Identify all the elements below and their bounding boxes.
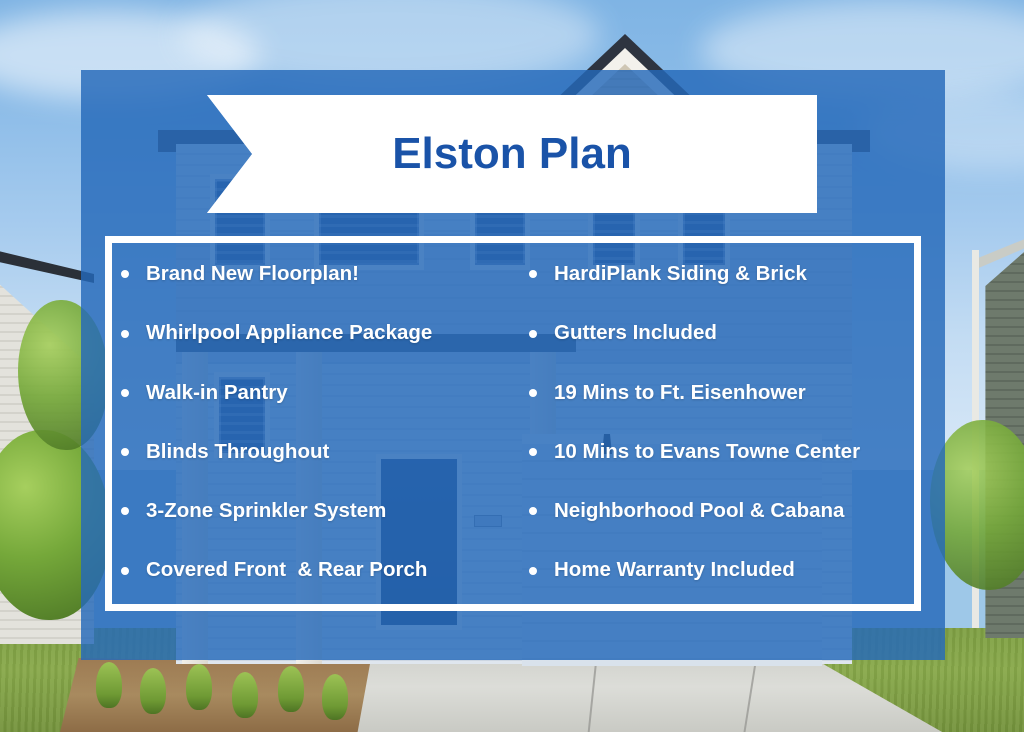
feature-label: 3-Zone Sprinkler System [146,500,386,523]
list-item: 19 Mins to Ft. Eisenhower [529,382,914,405]
feature-label: HardiPlank Siding & Brick [554,263,807,286]
bullet-dot-icon [529,567,537,575]
shrub [96,662,122,708]
list-item: Blinds Throughout [121,441,513,464]
features-box: Brand New Floorplan! Whirlpool Appliance… [105,236,921,611]
bullet-dot-icon [529,330,537,338]
feature-label: 19 Mins to Ft. Eisenhower [554,382,806,405]
bullet-dot-icon [121,330,129,338]
list-item: 3-Zone Sprinkler System [121,500,513,523]
bullet-dot-icon [121,567,129,575]
shrub [140,668,166,714]
shrub [186,664,212,710]
list-item: Whirlpool Appliance Package [121,322,513,345]
feature-label: Covered Front & Rear Porch [146,559,427,582]
bullet-dot-icon [121,270,129,278]
feature-label: Walk-in Pantry [146,382,288,405]
bullet-dot-icon [121,448,129,456]
bullet-dot-icon [121,389,129,397]
shrub [278,666,304,712]
feature-label: Neighborhood Pool & Cabana [554,500,844,523]
list-item: Home Warranty Included [529,559,914,582]
list-item: Walk-in Pantry [121,382,513,405]
bullet-dot-icon [529,270,537,278]
features-left-column: Brand New Floorplan! Whirlpool Appliance… [112,243,513,604]
feature-label: Gutters Included [554,322,717,345]
feature-label: 10 Mins to Evans Towne Center [554,441,860,464]
list-item: Brand New Floorplan! [121,263,513,286]
features-right-column: HardiPlank Siding & Brick Gutters Includ… [513,243,914,604]
feature-label: Blinds Throughout [146,441,329,464]
bullet-dot-icon [121,507,129,515]
feature-label: Brand New Floorplan! [146,263,359,286]
shrub [322,674,348,720]
title-ribbon: Elston Plan [207,95,817,213]
feature-label: Whirlpool Appliance Package [146,322,432,345]
list-item: Covered Front & Rear Porch [121,559,513,582]
feature-label: Home Warranty Included [554,559,795,582]
bullet-dot-icon [529,448,537,456]
list-item: HardiPlank Siding & Brick [529,263,914,286]
list-item: 10 Mins to Evans Towne Center [529,441,914,464]
list-item: Gutters Included [529,322,914,345]
flyer-canvas: Elston Plan Brand New Floorplan! Whirlpo… [0,0,1024,732]
page-title: Elston Plan [392,132,632,176]
bullet-dot-icon [529,507,537,515]
shrub [232,672,258,718]
list-item: Neighborhood Pool & Cabana [529,500,914,523]
bullet-dot-icon [529,389,537,397]
